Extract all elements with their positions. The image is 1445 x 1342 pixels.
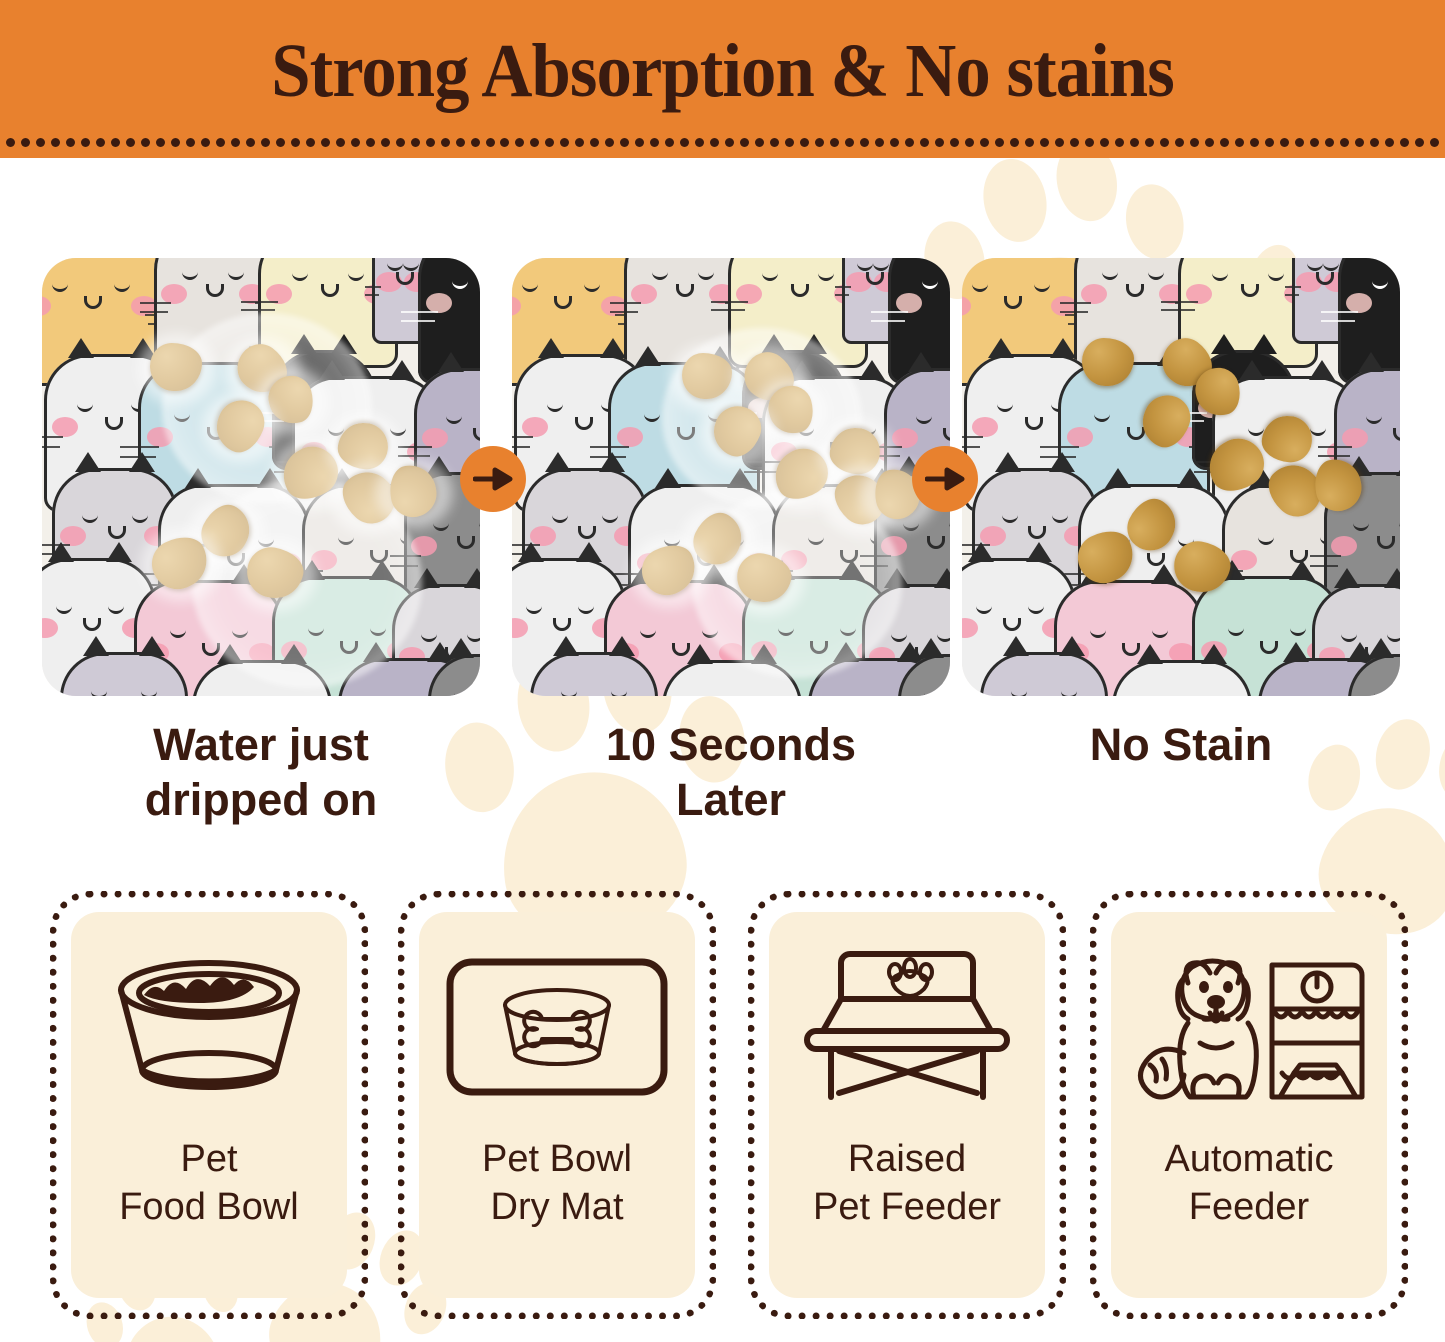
banner-dot [845,138,854,147]
banner-dot [276,138,285,147]
banner-dot [381,138,390,147]
water-gloss [725,544,805,616]
banner-dot [171,138,180,147]
banner-dot [725,138,734,147]
banner-dot [1385,138,1394,147]
banner-dot [291,138,300,147]
banner-dot [336,138,345,147]
banner-dot [426,138,435,147]
banner-dot [860,138,869,147]
banner-dot [800,138,809,147]
banner-dot [1295,138,1304,147]
banner-dot [575,138,584,147]
banner-dot [261,138,270,147]
use-case-label: Pet Bowl Dry Mat [482,1136,632,1231]
banner-dot [680,138,689,147]
banner-dot [1430,138,1439,147]
banner-dot [710,138,719,147]
arrow-right-icon [912,446,978,512]
banner-dot [980,138,989,147]
banner-dot [755,138,764,147]
banner-dot [1265,138,1274,147]
use-case-card-pet-bowl-dry-mat[interactable]: Pet Bowl Dry Mat [398,891,716,1319]
banner-dot [815,138,824,147]
banner-dot [486,138,495,147]
banner-dot [321,138,330,147]
banner-dot [366,138,375,147]
banner-dot [51,138,60,147]
banner-dot [81,138,90,147]
demo-photo-1 [42,258,480,696]
banner-dot [1340,138,1349,147]
automatic-feeder-icon [1130,918,1368,1136]
banner-dot [1100,138,1109,147]
use-case-card-raised-pet-feeder[interactable]: Raised Pet Feeder [748,891,1066,1319]
banner-dot [351,138,360,147]
water-gloss [630,536,710,608]
banner-dot [21,138,30,147]
banner-dot [1235,138,1244,147]
banner-dot [396,138,405,147]
banner-dot [1145,138,1154,147]
banner-dot [6,138,15,147]
water-gloss [202,393,280,463]
banner-dot [1130,138,1139,147]
absorption-demo-row: Water just dripped on 10 Seconds Later N… [0,170,1445,850]
banner-dot [560,138,569,147]
banner-dot [770,138,779,147]
banner-dot [456,138,465,147]
banner-dot [620,138,629,147]
banner-dot [500,138,509,147]
banner-dot [905,138,914,147]
banner-dot [1370,138,1379,147]
banner-dot [590,138,599,147]
banner-dot [1115,138,1124,147]
water-gloss [138,333,216,405]
banner-dot [740,138,749,147]
banner-dot [875,138,884,147]
use-case-label: Automatic Feeder [1165,1136,1334,1231]
banner-dot [411,138,420,147]
banner-dot [441,138,450,147]
banner-dot [1040,138,1049,147]
demo-photo-2 [512,258,950,696]
cat-fabric-pattern [512,258,950,696]
banner-dot [785,138,794,147]
banner-dot [246,138,255,147]
banner-dot [1415,138,1424,147]
banner-dot [1280,138,1289,147]
banner-dot [231,138,240,147]
banner-dot [1325,138,1334,147]
pet-bowl-dry-mat-icon [445,918,669,1136]
banner-dot [635,138,644,147]
banner-dot [306,138,315,147]
banner-dot [156,138,165,147]
banner-dot [950,138,959,147]
banner-dot [1190,138,1199,147]
water-gloss [375,458,453,528]
header-banner: Strong Absorption & No stains [0,0,1445,158]
banner-dot [1085,138,1094,147]
banner-dot [650,138,659,147]
banner-dot [66,138,75,147]
banner-dot [141,138,150,147]
banner-dot [605,138,614,147]
demo-caption-1: Water just dripped on [42,718,480,828]
banner-dot [36,138,45,147]
banner-dot [1250,138,1259,147]
banner-dot [216,138,225,147]
banner-dot [1400,138,1409,147]
cat-fabric-pattern [962,258,1400,696]
banner-dot [1205,138,1214,147]
banner-dot [695,138,704,147]
water-gloss [235,538,317,612]
raised-pet-feeder-icon [795,918,1019,1136]
use-case-cards: Pet Food Bowl Pet Bowl Dry Mat [0,885,1445,1335]
demo-photo-3 [962,258,1400,696]
banner-dot [126,138,135,147]
banner-dot [935,138,944,147]
banner-dot [1070,138,1079,147]
banner-dot [96,138,105,147]
pet-food-bowl-icon [104,918,314,1136]
demo-caption-3: No Stain [962,718,1400,773]
use-case-label: Pet Food Bowl [119,1136,299,1231]
banner-dot [665,138,674,147]
banner-dot [515,138,524,147]
banner-dot [530,138,539,147]
banner-dot [545,138,554,147]
banner-dot [111,138,120,147]
banner-dot [890,138,899,147]
cat-fabric-pattern [42,258,480,696]
banner-dot [965,138,974,147]
page-title: Strong Absorption & No stains [51,28,1395,115]
banner-dot [830,138,839,147]
banner-dot [1175,138,1184,147]
banner-dot [995,138,1004,147]
banner-dot [201,138,210,147]
banner-dot [471,138,480,147]
banner-dot [186,138,195,147]
banner-dot [1355,138,1364,147]
banner-dot [1160,138,1169,147]
use-case-card-automatic-feeder[interactable]: Automatic Feeder [1090,891,1408,1319]
water-gloss [140,528,222,602]
banner-dot [1055,138,1064,147]
banner-dot [1010,138,1019,147]
banner-dot [1025,138,1034,147]
banner-dot-border [0,136,1445,148]
banner-dot [1220,138,1229,147]
demo-caption-2: 10 Seconds Later [512,718,950,828]
arrow-right-icon [460,446,526,512]
use-case-label: Raised Pet Feeder [813,1136,1001,1231]
use-case-card-pet-food-bowl[interactable]: Pet Food Bowl [50,891,368,1319]
banner-dot [920,138,929,147]
banner-dot [1310,138,1319,147]
water-gloss [700,398,776,468]
